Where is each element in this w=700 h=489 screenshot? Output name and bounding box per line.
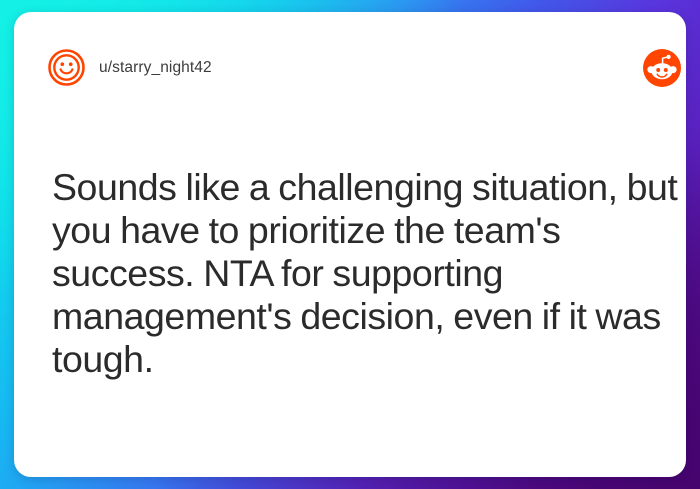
reddit-snoo-logo-icon bbox=[643, 49, 681, 87]
smiley-face-avatar-icon bbox=[47, 48, 86, 87]
comment-card-header: u/starry_night42 bbox=[14, 12, 686, 96]
comment-text: Sounds like a challenging situation, but… bbox=[52, 166, 682, 381]
username-label: u/starry_night42 bbox=[99, 48, 212, 87]
comment-card: u/starry_night42 bbox=[14, 12, 686, 477]
post-image-canvas: u/starry_night42 bbox=[0, 0, 700, 489]
